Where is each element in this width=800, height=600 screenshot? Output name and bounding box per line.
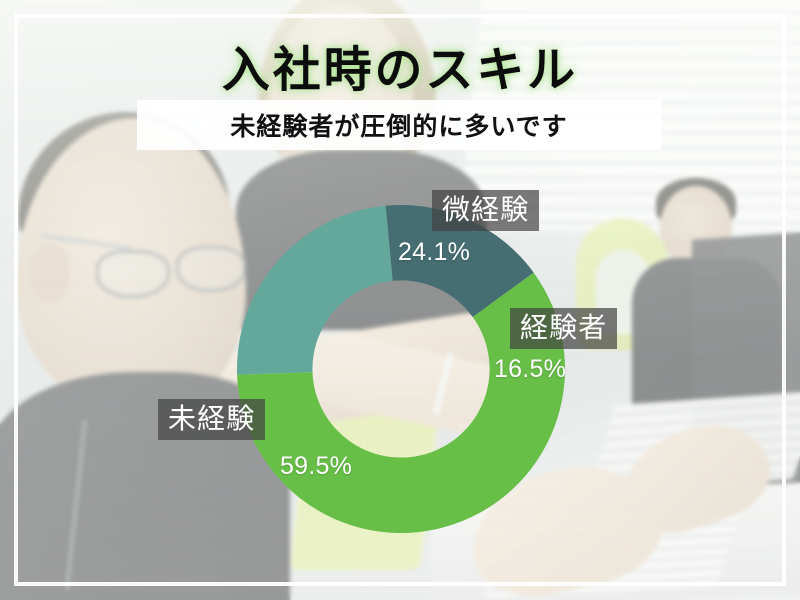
slice-value-experienced: 16.5% xyxy=(494,355,566,384)
slice-label-inexperienced: 未経験 xyxy=(158,399,265,440)
slice-label-experienced: 経験者 xyxy=(510,308,617,349)
slide: 入社時のスキル 未経験者が圧倒的に多いです 24.1% 16.5% 59.5% … xyxy=(0,0,800,600)
subtitle-text: 未経験者が圧倒的に多いです xyxy=(230,107,567,143)
page-title: 入社時のスキル xyxy=(0,30,800,100)
donut-slice xyxy=(237,206,393,375)
subtitle-band: 未経験者が圧倒的に多いです xyxy=(137,100,661,150)
slice-value-slight: 24.1% xyxy=(398,238,470,267)
slice-label-slight: 微経験 xyxy=(432,190,539,231)
slice-value-inexperienced: 59.5% xyxy=(280,452,352,481)
